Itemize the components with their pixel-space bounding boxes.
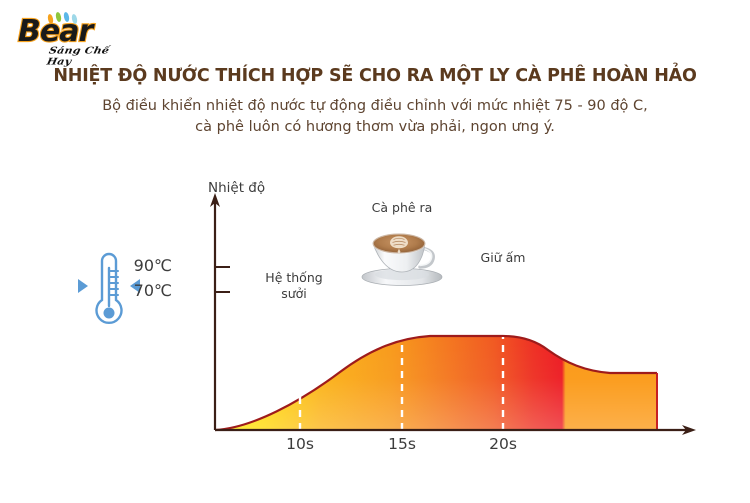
- annotation-keep-warm: Giữ ấm: [468, 250, 538, 266]
- x-tick-label-20s: 20s: [478, 435, 528, 453]
- brand-logo: Bear Sáng Chế Hay: [18, 12, 128, 58]
- x-tick-label-10s: 10s: [275, 435, 325, 453]
- y-tick-label-70: 70℃: [112, 281, 172, 300]
- x-tick-label-15s: 15s: [377, 435, 427, 453]
- coffee-cup-icon: [355, 224, 449, 286]
- chart-area-series: [215, 336, 657, 436]
- y-axis-label: Nhiệt độ: [208, 180, 265, 196]
- subtitle-line-1: Bộ điều khiển nhiệt độ nước tự động điều…: [0, 96, 750, 117]
- page-subtitle: Bộ điều khiển nhiệt độ nước tự động điều…: [0, 96, 750, 138]
- y-tick-label-90: 90℃: [112, 256, 172, 275]
- annotation-heating-line1: Hệ thống: [252, 270, 336, 286]
- subtitle-line-2: cà phê luôn có hương thơm vừa phải, ngon…: [0, 117, 750, 138]
- annotation-heating-line2: sưởi: [252, 286, 336, 302]
- brand-tagline: Sáng Chế Hay: [46, 45, 131, 67]
- annotation-heating-stage: Hệ thống sưởi: [252, 270, 336, 302]
- page-title: NHIỆT ĐỘ NƯỚC THÍCH HỢP SẼ CHO RA MỘT LY…: [0, 66, 750, 86]
- brand-dots-icon: [48, 12, 82, 24]
- annotation-coffee-out: Cà phê ra: [352, 200, 452, 216]
